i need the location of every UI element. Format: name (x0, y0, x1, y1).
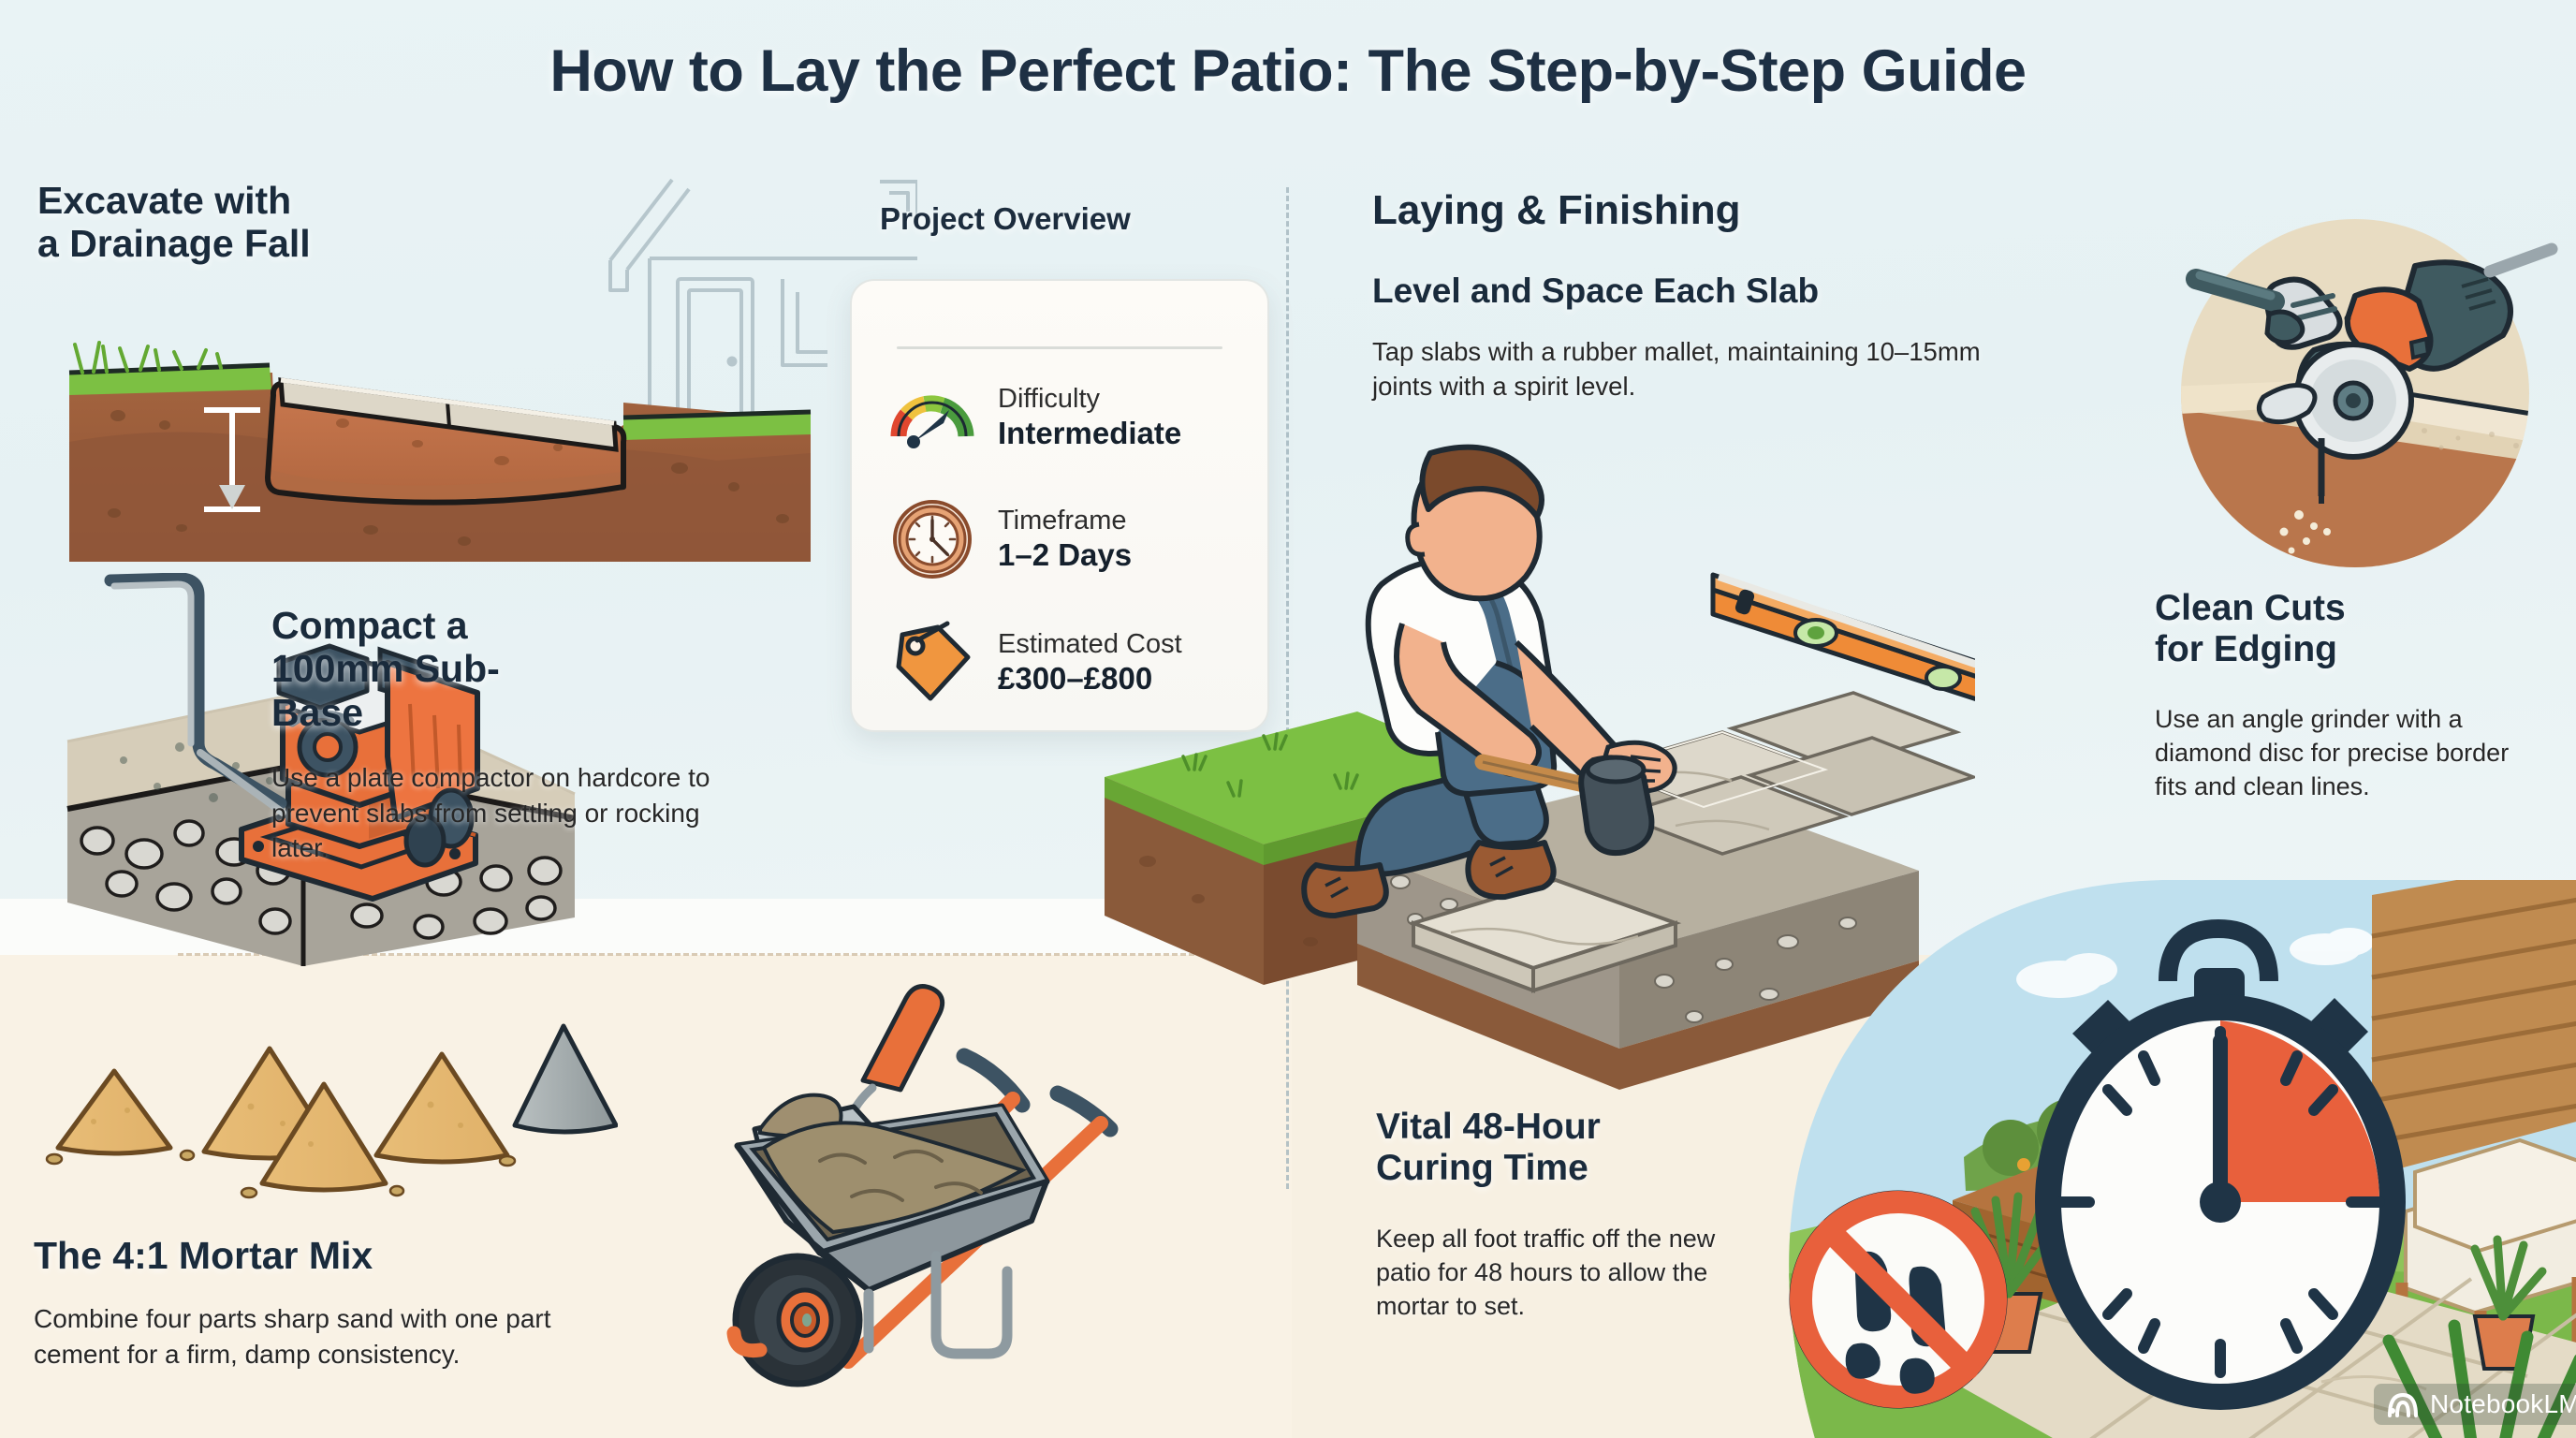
body-mortar: Combine four parts sharp sand with one p… (34, 1301, 642, 1372)
watermark-label: NotebookLM (2430, 1389, 2576, 1419)
overview-heading: Project Overview (880, 202, 1131, 237)
sand-piles-illustration (37, 1009, 618, 1215)
difficulty-gauge-icon (889, 374, 975, 461)
clock-icon (889, 496, 975, 582)
price-tag-icon (889, 620, 975, 706)
watermark: NotebookLM (2374, 1384, 2576, 1425)
page-title: How to Lay the Perfect Patio: The Step-b… (0, 37, 2576, 105)
heading-clean-cuts: Clean Cutsfor Edging (2155, 588, 2529, 670)
heading-curing-time: Vital 48-HourCuring Time (1376, 1107, 1750, 1189)
heading-excavate: Excavate witha Drainage Fall (37, 180, 431, 266)
body-curing-time: Keep all foot traffic off the new patio … (1376, 1222, 1722, 1324)
heading-level-slab: Level and Space Each Slab (1372, 271, 2027, 311)
notebooklm-logo-icon (2387, 1390, 2419, 1418)
infographic-canvas: How to Lay the Perfect Patio: The Step-b… (0, 0, 2576, 1438)
angle-grinder-illustration (2144, 204, 2567, 582)
soil-cross-section-illustration (62, 330, 820, 575)
heading-compact: Compact a100mm Sub-Base (271, 604, 580, 734)
body-level-slab: Tap slabs with a rubber mallet, maintain… (1372, 335, 2018, 404)
body-clean-cuts: Use an angle grinder with a diamond disc… (2155, 702, 2548, 804)
heading-mortar: The 4:1 Mortar Mix (34, 1234, 520, 1277)
overview-divider-rule (897, 346, 1222, 349)
heading-laying-finishing: Laying & Finishing (1372, 187, 1971, 233)
stopwatch-no-foot-traffic-illustration (1760, 839, 2576, 1438)
body-compact: Use a plate compactor on hardcore to pre… (271, 760, 711, 866)
